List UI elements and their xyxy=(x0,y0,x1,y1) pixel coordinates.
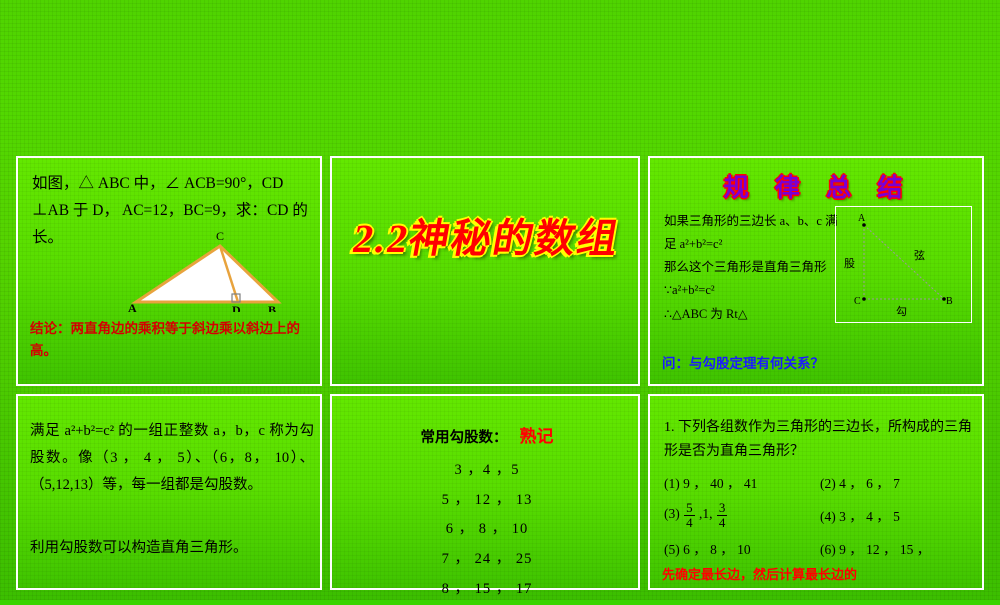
exercise-hint: 先确定最长边，然后计算最长边的 xyxy=(662,564,986,583)
svg-text:A: A xyxy=(858,213,866,224)
slide-canvas: 如图，△ ABC 中，∠ ACB=90°，CD ⊥AB 于 D， AC=12，B… xyxy=(0,0,1000,600)
option-label: (6) xyxy=(820,542,836,557)
list-item: 8 ， 15 ， 17 xyxy=(332,575,642,605)
summary-line-1: 如果三角形的三边长 a、b、c 满足 a²+b²=c² xyxy=(664,210,844,256)
summary-title: 规 律 总 结 xyxy=(650,168,986,204)
summary-question: 问：与勾股定理有何关系？ xyxy=(662,352,982,372)
gou-gu-xian-figure: A C B 股 弦 勾 xyxy=(835,206,972,323)
fraction-five-fourths: 5 4 xyxy=(684,501,695,529)
summary-line-3: ∵a²+b²=c² xyxy=(664,279,844,302)
option-item: (4) 3 ， 4 ， 5 xyxy=(820,505,976,525)
option-row: (3) 5 4 ,1, 3 4 (4) 3 ， 4 ， 5 xyxy=(664,501,976,529)
panel-bottom-left: 满足 a²+b²=c² 的一组正整数 a，b，c 称为勾股数。像（3 ， 4 ，… xyxy=(16,394,322,590)
right-triangle-figure: C A D B xyxy=(128,222,298,312)
option-text: 9 ， 12 ， 15 ， xyxy=(839,542,930,557)
panel-bottom-middle: 常用勾股数：熟记 3 ，4 ，5 5 ， 12 ， 13 6 ， 8 ， 10 … xyxy=(330,394,640,590)
svg-text:A: A xyxy=(128,301,137,312)
summary-line-2: 那么这个三角形是直角三角形 xyxy=(664,256,844,279)
option-text: 4 ， 6 ， 7 xyxy=(839,476,900,491)
pythagorean-triple-footer: 利用勾股数可以构造直角三角形。 xyxy=(30,536,314,557)
option-item: (2) 4 ， 6 ， 7 xyxy=(820,472,976,492)
option-row: (1) 9 ， 40 ， 41 (2) 4 ， 6 ， 7 xyxy=(664,472,976,492)
exercise-options: (1) 9 ， 40 ， 41 (2) 4 ， 6 ， 7 (3) 5 4 ,1… xyxy=(664,472,976,567)
svg-text:B: B xyxy=(268,303,276,312)
fraction-three-fourths: 3 4 xyxy=(717,501,728,529)
option-label: (5) xyxy=(664,542,680,557)
option-text: 3 ， 4 ， 5 xyxy=(839,509,900,524)
common-triples-list: 3 ，4 ，5 5 ， 12 ， 13 6 ， 8 ， 10 7 ， 24 ， … xyxy=(332,456,642,605)
svg-text:C: C xyxy=(854,296,861,307)
option-item: (5) 6 ， 8 ， 10 xyxy=(664,538,820,558)
conclusion-text: 结论：两直角边的乘积等于斜边乘以斜边上的高。 xyxy=(30,318,315,361)
option-label: (2) xyxy=(820,476,836,491)
summary-line-4: ∴△ABC 为 Rt△ xyxy=(664,303,844,326)
panel-top-left: 如图，△ ABC 中，∠ ACB=90°，CD ⊥AB 于 D， AC=12，B… xyxy=(16,156,322,386)
fraction-denominator: 4 xyxy=(717,516,728,530)
list-item: 5 ， 12 ， 13 xyxy=(332,486,642,516)
option-label: (1) xyxy=(664,476,680,491)
common-triples-heading: 常用勾股数：熟记 xyxy=(332,422,642,447)
option-row: (5) 6 ， 8 ， 10 (6) 9 ， 12 ， 15 ， xyxy=(664,538,976,558)
svg-text:D: D xyxy=(232,303,241,312)
option-text: 9 ， 40 ， 41 xyxy=(683,476,757,491)
list-item: 7 ， 24 ， 25 xyxy=(332,545,642,575)
list-item: 6 ， 8 ， 10 xyxy=(332,515,642,545)
svg-text:C: C xyxy=(216,229,224,243)
list-item: 3 ，4 ，5 xyxy=(332,456,642,486)
svg-text:弦: 弦 xyxy=(914,248,925,262)
fraction-numerator: 3 xyxy=(717,501,728,516)
fraction-denominator: 4 xyxy=(684,516,695,530)
option-text: 6 ， 8 ， 10 xyxy=(683,542,751,557)
common-triples-heading-label: 常用勾股数： xyxy=(421,430,508,446)
exercise-question: 1. 下列各组数作为三角形的三边长，所构成的三角形是否为直角三角形？ xyxy=(664,416,974,464)
summary-body: 如果三角形的三边长 a、b、c 满足 a²+b²=c² 那么这个三角形是直角三角… xyxy=(664,210,844,326)
option-mid-text: ,1, xyxy=(699,506,713,521)
slide-title: 2.2神秘的数组 xyxy=(327,206,647,264)
option-item: (3) 5 4 ,1, 3 4 xyxy=(664,501,820,529)
svg-text:勾: 勾 xyxy=(896,305,907,318)
panel-title: 2.2神秘的数组 xyxy=(330,156,640,386)
panel-top-right: 规 律 总 结 如果三角形的三边长 a、b、c 满足 a²+b²=c² 那么这个… xyxy=(648,156,984,386)
pythagorean-triple-definition: 满足 a²+b²=c² 的一组正整数 a，b，c 称为勾股数。像（3 ， 4 ，… xyxy=(30,418,314,498)
svg-text:股: 股 xyxy=(844,257,855,270)
option-item: (6) 9 ， 12 ， 15 ， xyxy=(820,538,976,558)
memorize-emphasis: 熟记 xyxy=(520,427,554,446)
svg-text:B: B xyxy=(946,296,953,307)
option-item: (1) 9 ， 40 ， 41 xyxy=(664,472,820,492)
option-label: (4) xyxy=(820,509,836,524)
option-label: (3) xyxy=(664,506,680,521)
fraction-numerator: 5 xyxy=(684,501,695,516)
panel-bottom-right: 1. 下列各组数作为三角形的三边长，所构成的三角形是否为直角三角形？ (1) 9… xyxy=(648,394,984,590)
